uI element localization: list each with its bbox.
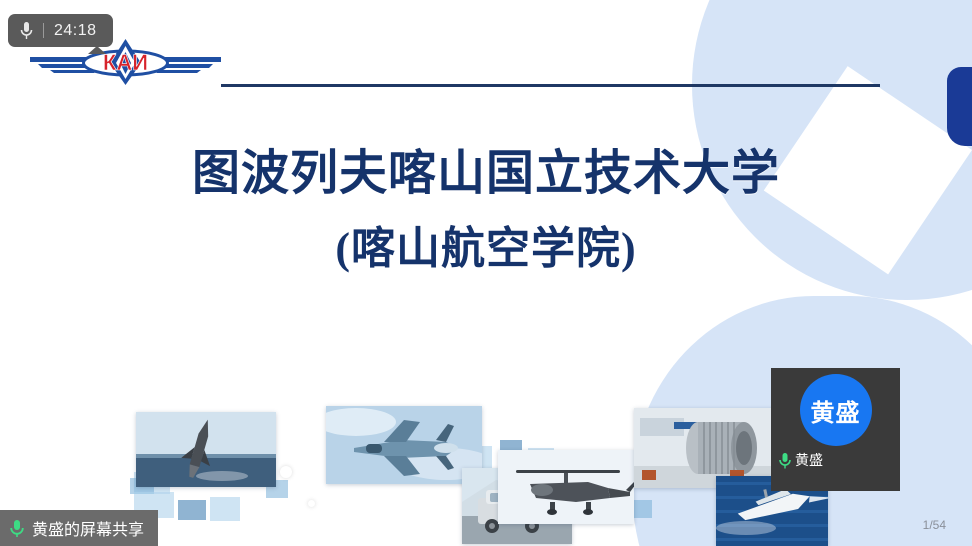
background-navy-accent bbox=[947, 67, 972, 146]
screen-share-stage: КАИ 图波列夫喀山国立技术大学 (喀山航空学院) bbox=[0, 0, 972, 546]
microphone-icon[interactable] bbox=[20, 21, 33, 40]
header-divider-rule bbox=[221, 84, 880, 87]
participant-name: 黄盛 bbox=[795, 450, 823, 470]
meeting-timer-pill[interactable]: 24:18 bbox=[8, 14, 113, 47]
fighter-jet-photo bbox=[326, 406, 482, 484]
photo-collage bbox=[130, 404, 830, 546]
screen-share-label: 黄盛的屏幕共享 bbox=[32, 516, 144, 540]
timer-divider bbox=[43, 23, 44, 38]
participant-name-row: 黄盛 bbox=[779, 450, 823, 470]
decor-square bbox=[210, 497, 240, 521]
rocket-launch-photo bbox=[136, 412, 276, 487]
microphone-green-icon[interactable] bbox=[779, 452, 791, 469]
decor-dot bbox=[308, 500, 315, 507]
avatar-initials: 黄盛 bbox=[811, 393, 861, 428]
svg-text:КАИ: КАИ bbox=[103, 50, 148, 75]
meeting-timer-text: 24:18 bbox=[54, 22, 97, 40]
participant-video-tile[interactable]: 黄盛 黄盛 bbox=[771, 368, 900, 491]
decor-square bbox=[178, 500, 206, 520]
page-indicator: 1/54 bbox=[923, 518, 946, 532]
screen-share-banner[interactable]: 黄盛的屏幕共享 bbox=[0, 510, 158, 546]
helicopter-photo bbox=[498, 450, 634, 524]
decor-dot bbox=[280, 466, 292, 478]
microphone-green-icon[interactable] bbox=[10, 519, 24, 538]
avatar: 黄盛 bbox=[800, 374, 872, 446]
timer-pill-caret bbox=[88, 46, 106, 54]
